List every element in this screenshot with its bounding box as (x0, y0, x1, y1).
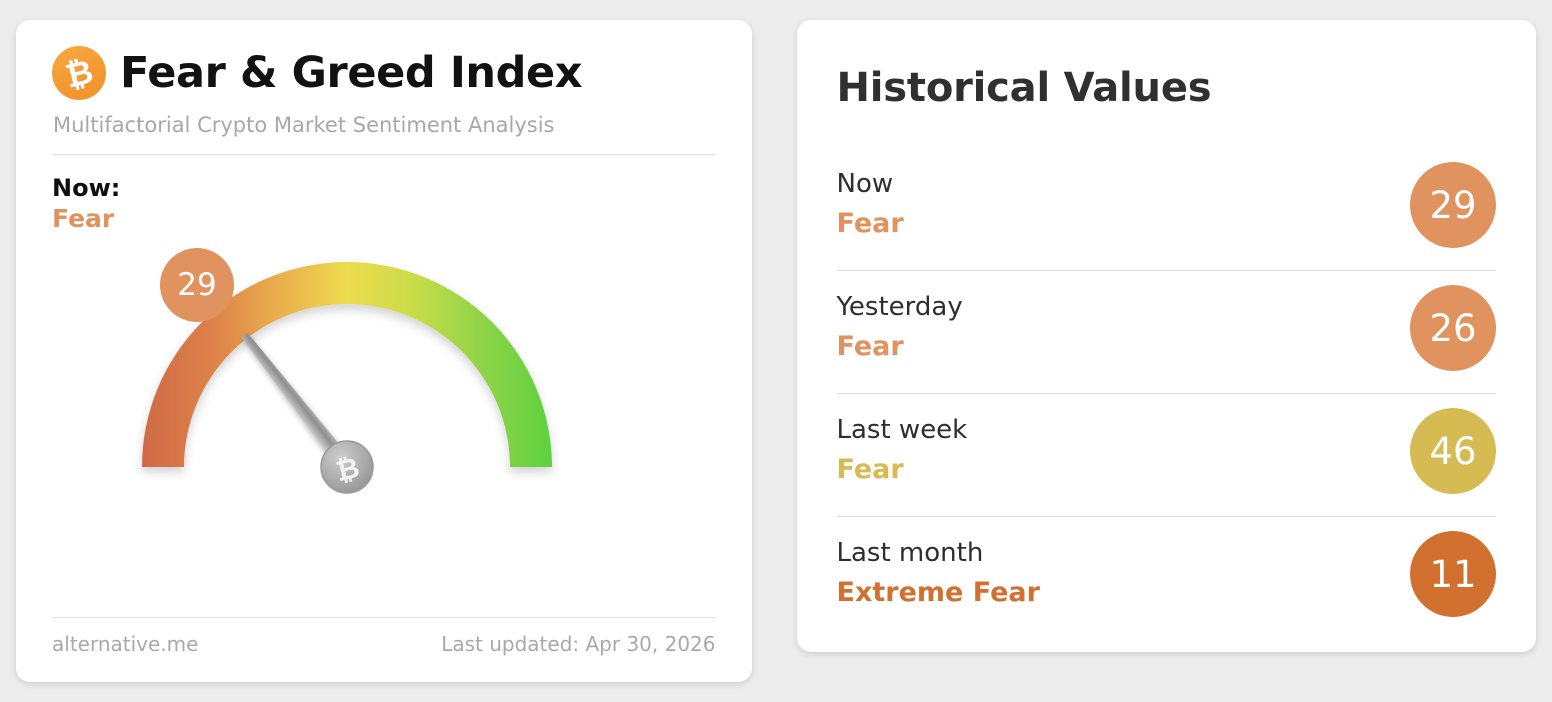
svg-text:₿: ₿ (61, 51, 97, 95)
classification-label: Fear (837, 206, 904, 242)
value-badge: 26 (1410, 285, 1496, 371)
fear-greed-index-card: ₿ Fear & Greed Index Multifactorial Cryp… (16, 20, 752, 682)
value-text: 26 (1429, 310, 1476, 347)
historical-values-list: Now Fear 29 Yesterday Fear 26 Last wee (837, 148, 1497, 639)
list-item[interactable]: Last week Fear 46 (837, 394, 1497, 517)
classification-label: Fear (837, 329, 963, 365)
dashboard-root: ₿ Fear & Greed Index Multifactorial Cryp… (0, 0, 1552, 702)
historical-values-card: Historical Values Now Fear 29 Yesterday … (797, 20, 1537, 652)
value-badge: 29 (1410, 162, 1496, 248)
page-subtitle: Multifactorial Crypto Market Sentiment A… (53, 114, 716, 137)
value-text: 11 (1429, 556, 1476, 593)
value-badge: 11 (1410, 531, 1496, 617)
period-label: Last week (837, 413, 968, 448)
period-label: Now (837, 167, 904, 202)
value-badge: 46 (1410, 408, 1496, 494)
now-classification: Fear (52, 205, 716, 234)
gauge-value-badge: 29 (160, 248, 234, 322)
header-divider (52, 154, 716, 155)
value-text: 46 (1429, 433, 1476, 470)
card-header: ₿ Fear & Greed Index (52, 20, 716, 100)
page-title: Fear & Greed Index (120, 52, 582, 95)
gauge-value-text: 29 (177, 270, 216, 301)
period-label: Last month (837, 536, 1040, 571)
bitcoin-needle-hub-icon: ₿ (321, 441, 373, 493)
bitcoin-icon: ₿ (52, 46, 106, 100)
list-item[interactable]: Now Fear 29 (837, 148, 1497, 271)
last-updated-text: Last updated: Apr 30, 2026 (441, 632, 715, 656)
classification-label: Fear (837, 452, 968, 488)
historical-values-title: Historical Values (837, 68, 1497, 108)
card-footer: alternative.me Last updated: Apr 30, 202… (52, 617, 716, 656)
source-link[interactable]: alternative.me (52, 632, 198, 656)
list-item[interactable]: Yesterday Fear 26 (837, 271, 1497, 394)
period-label: Yesterday (837, 290, 963, 325)
value-text: 29 (1429, 187, 1476, 224)
gauge: ₿ 29 (52, 239, 716, 569)
footer-divider (52, 617, 716, 618)
classification-label: Extreme Fear (837, 575, 1040, 611)
now-label: Now: (52, 175, 716, 203)
list-item[interactable]: Last month Extreme Fear 11 (837, 517, 1497, 639)
